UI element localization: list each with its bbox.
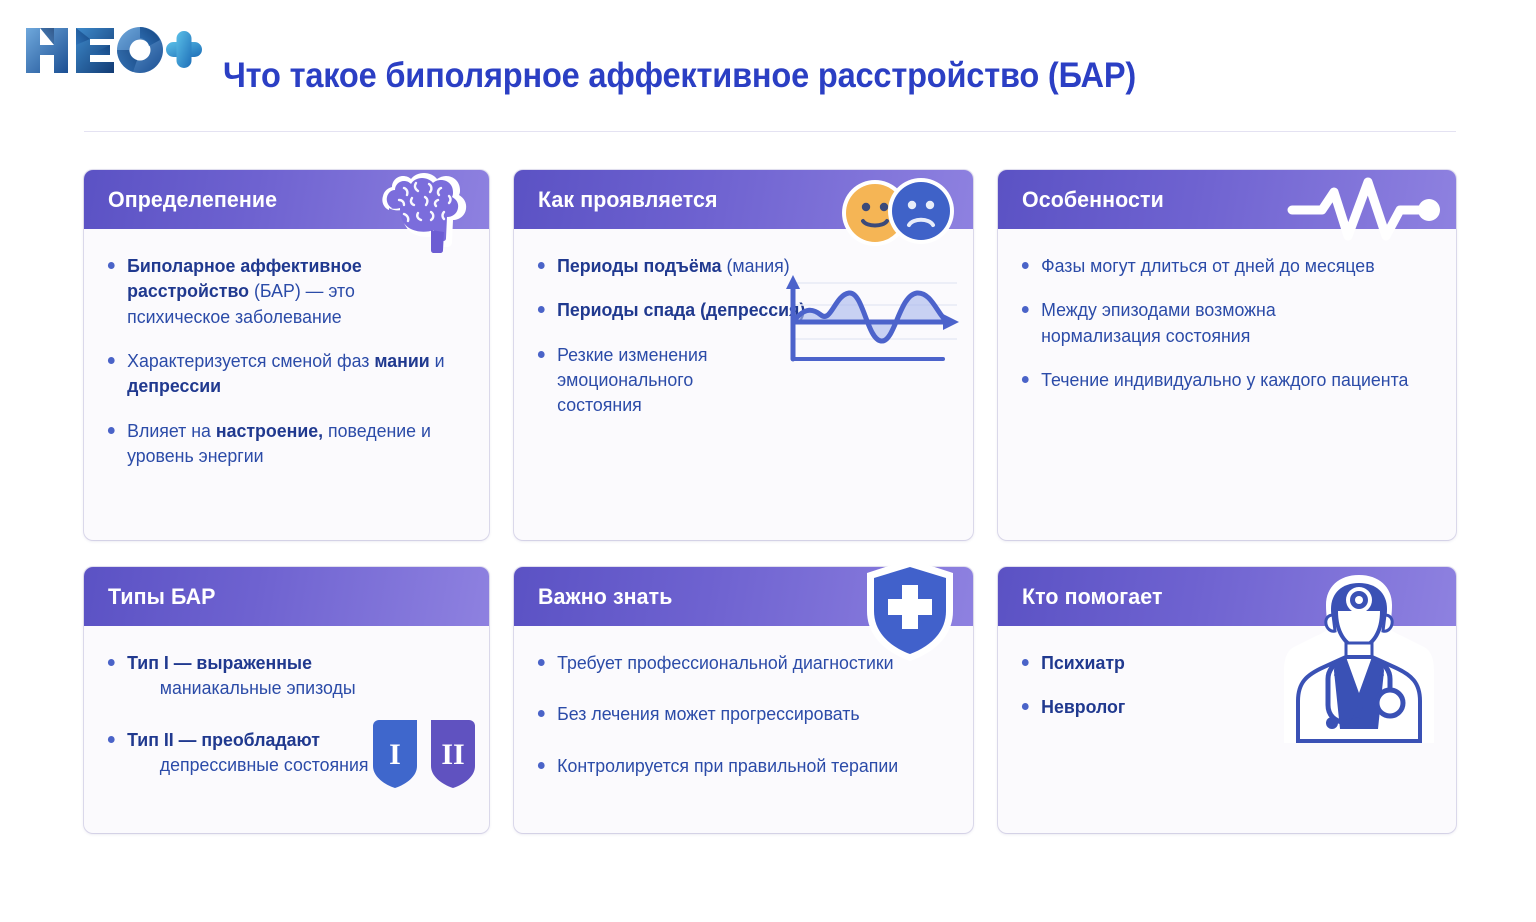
bullet-text: Фазы могут длиться от дней до месяцев	[1041, 255, 1375, 276]
bullet-text: Между эпизодами возможна нормализация со…	[1041, 299, 1276, 345]
card-important: Важно знать Требует профессиональной диа…	[514, 567, 973, 833]
list-item: Без лечения может прогрессировать	[536, 701, 934, 726]
list-item: Между эпизодами возможна нормализация со…	[1020, 297, 1308, 348]
pulse-line-icon	[1286, 174, 1446, 250]
doctor-icon	[1284, 571, 1434, 743]
bullet-bold-text: мании	[374, 350, 429, 371]
card-body-types: Тип I — выраженные маниакальные эпизоды …	[84, 626, 489, 806]
card-header-important: Важно знать	[514, 567, 973, 626]
list-item: Фазы могут длиться от дней до месяцев	[1020, 253, 1418, 278]
list-item: Течение индивидуально у каждого пациента	[1020, 367, 1418, 392]
list-item: Биполарное аффективное расстройство (БАР…	[106, 253, 453, 329]
mood-wave-chart-icon	[771, 269, 961, 373]
page-title: Что такое биполярное аффективное расстро…	[223, 56, 1136, 96]
types-badges-icon: I II	[369, 720, 479, 790]
list-item: Характеризуется сменой фаз мании и депре…	[106, 348, 453, 399]
card-header-definition: Определепение	[84, 170, 489, 229]
bullet-bold-text-2: депрессии	[127, 375, 221, 396]
card-types: Типы БАР Тип I — выраженные маниакальные…	[84, 567, 489, 833]
bullet-bold-text: настроение,	[216, 420, 323, 441]
badge-label-1: I	[389, 738, 401, 771]
card-header-types: Типы БАР	[84, 567, 489, 626]
bullet-text: Течение индивидуально у каждого пациента	[1041, 369, 1408, 390]
card-body-features: Фазы могут длиться от дней до месяцев Ме…	[998, 229, 1457, 421]
card-title: Особенности	[1022, 187, 1164, 213]
bullet-text: Требует профессиональной диагностики	[557, 652, 893, 673]
bullet-text: Влияет на	[127, 420, 216, 441]
card-manifestation: Как проявляется Период	[514, 170, 973, 540]
bullet-list: Требует профессиональной диагностики Без…	[536, 650, 951, 778]
card-definition: Определепение	[84, 170, 489, 540]
bullet-bold-text: Периоды подъёма	[557, 255, 721, 276]
bullet-bold-text: Тип I — выраженные	[127, 652, 312, 673]
card-header-manifestation: Как проявляется	[514, 170, 973, 229]
card-who-helps: Кто помогает	[998, 567, 1457, 833]
bullet-list: Фазы могут длиться от дней до месяцев Ме…	[1020, 253, 1435, 392]
bullet-text: Характеризуется сменой фаз	[127, 350, 374, 371]
card-title: Как проявляется	[538, 187, 718, 213]
brain-icon	[371, 164, 483, 256]
card-features: Особенности Фазы могут длиться от дней д…	[998, 170, 1457, 540]
list-item: Тип I — выраженные маниакальные эпизоды	[106, 650, 453, 701]
bullet-text: Контролируется при правильной терапии	[557, 755, 898, 776]
card-title: Кто помогает	[1022, 584, 1163, 610]
bullet-text: Без лечения может прогрессировать	[557, 703, 860, 724]
card-header-who-helps: Кто помогает	[998, 567, 1457, 626]
card-body-definition: Биполарное аффективное расстройство (БАР…	[84, 229, 489, 497]
bullet-bold-text: Психиатр	[1041, 652, 1125, 673]
badge-label-2: II	[441, 738, 464, 771]
neo-plus-logo	[18, 18, 204, 80]
bullet-text-2: и	[430, 350, 445, 371]
card-title: Определепение	[108, 187, 277, 213]
list-item: Контролируется при правильной терапии	[536, 753, 934, 778]
bullet-bold-text: Невролог	[1041, 696, 1125, 717]
title-divider	[84, 131, 1456, 132]
card-header-features: Особенности	[998, 170, 1457, 229]
card-title: Важно знать	[538, 584, 672, 610]
bullet-text: Резкие изменения эмоционального состояни…	[557, 344, 707, 416]
mood-faces-icon	[833, 178, 959, 248]
bullet-bold-text: Тип II — преобладают	[127, 729, 320, 750]
bullet-subtext: маниакальные эпизоды	[127, 675, 452, 700]
list-item: Влияет на настроение, поведение и уровен…	[106, 418, 453, 469]
bullet-list: Биполарное аффективное расстройство (БАР…	[106, 253, 467, 468]
shield-cross-icon	[861, 557, 959, 663]
cards-grid: Определепение	[84, 170, 1456, 833]
bullet-bold-text: Периоды спада (депрессия)	[557, 299, 805, 320]
list-item: Резкие изменения эмоционального состояни…	[536, 342, 776, 418]
card-title: Типы БАР	[108, 584, 215, 610]
page-header: Что такое биполярное аффективное расстро…	[0, 0, 1536, 132]
card-body-manifestation: Периоды подъёма (мания) Периоды спада (д…	[514, 229, 973, 447]
